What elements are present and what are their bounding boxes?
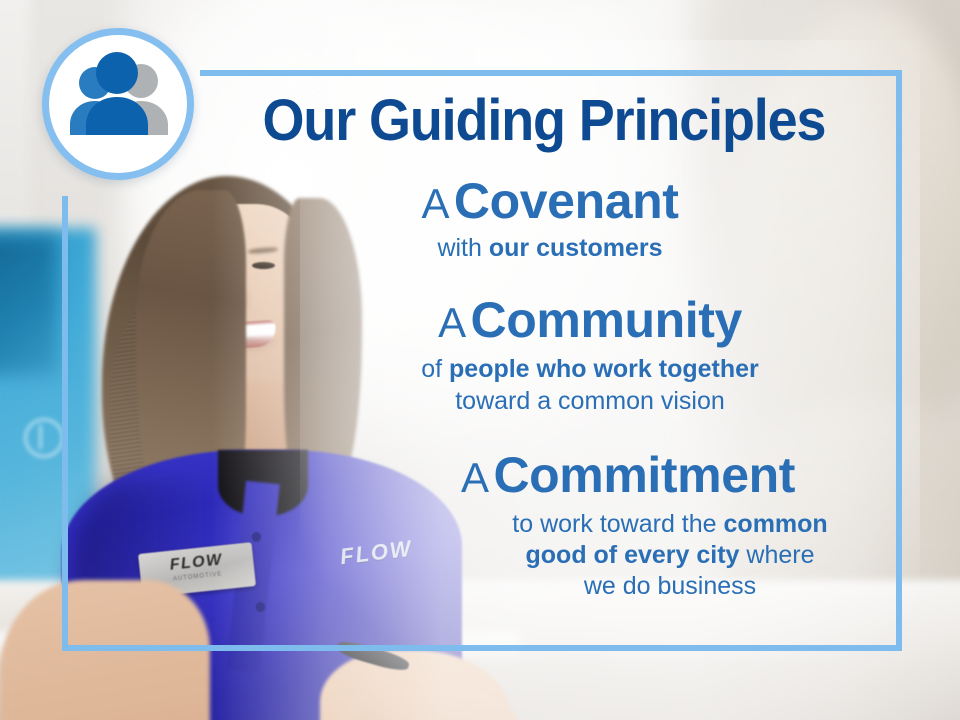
community-sub-bold: people who work together <box>449 355 759 383</box>
frame-border-left <box>62 196 68 651</box>
principle-commitment-keyword: Commitment <box>493 447 795 503</box>
frame-border-top <box>200 70 902 76</box>
principle-commitment: A Commitment to work toward the common g… <box>366 449 890 603</box>
people-group-icon <box>49 35 187 173</box>
page-title: Our Guiding Principles <box>237 92 851 150</box>
frame-border-right <box>896 70 902 651</box>
principle-commitment-subtext: to work toward the common good of every … <box>450 509 890 603</box>
principle-covenant-heading: A Covenant <box>210 175 890 227</box>
principle-community-subtext: of people who work together toward a com… <box>290 354 890 417</box>
community-sub-line1: of people who work together <box>290 354 890 385</box>
principle-community-keyword: Community <box>471 292 742 348</box>
principle-covenant: A Covenant with our customers <box>210 175 890 264</box>
commitment-sub-prefix: to work toward the <box>512 510 723 538</box>
community-sub-prefix: of <box>421 355 449 383</box>
principle-community: A Community of people who work together … <box>290 294 890 417</box>
principle-covenant-subtext: with our customers <box>210 233 890 264</box>
commitment-sub-bold1: common <box>724 510 828 538</box>
people-icon-badge <box>42 28 194 180</box>
commitment-sub-line2: good of every city where <box>450 540 890 571</box>
principle-commitment-article: A <box>461 454 489 501</box>
community-sub-line2: toward a common vision <box>290 386 890 417</box>
commitment-sub-line1: to work toward the common <box>450 509 890 540</box>
commitment-sub-line3: we do business <box>450 571 890 602</box>
principle-covenant-keyword: Covenant <box>454 173 679 229</box>
principle-covenant-article: A <box>421 180 449 227</box>
principle-community-article: A <box>438 299 466 346</box>
covenant-sub-bold: our customers <box>489 234 663 262</box>
principle-commitment-heading: A Commitment <box>366 449 890 501</box>
principle-community-heading: A Community <box>290 294 890 346</box>
poster-stage: FLOW AUTOMOTIVE FLOW Our <box>0 0 960 720</box>
commitment-sub-suffix: where <box>739 541 814 569</box>
principles-list: A Covenant with our customers A Communit… <box>190 175 890 603</box>
frame-border-bottom <box>62 645 902 651</box>
commitment-sub-bold2: good of every city <box>526 541 740 569</box>
covenant-sub-prefix: with <box>437 234 488 262</box>
